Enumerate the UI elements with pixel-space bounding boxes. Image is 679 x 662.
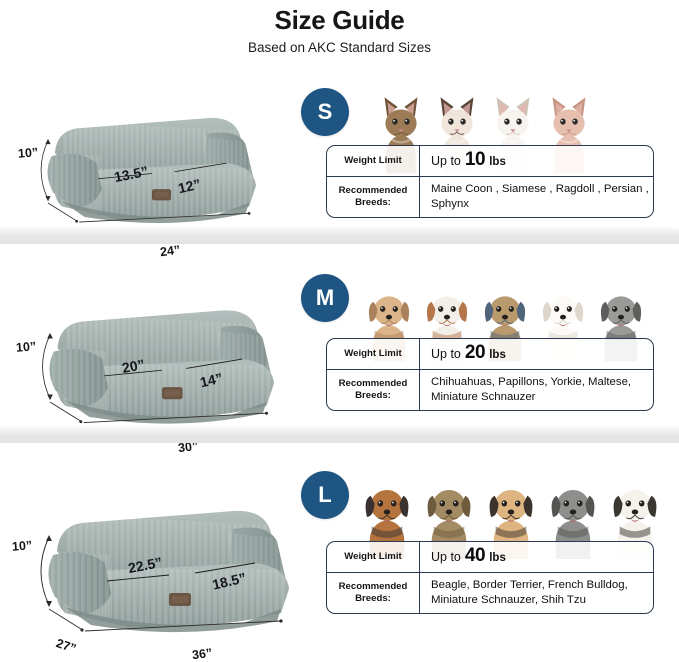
bed-illustration-l: 10” 22.5” 18.5” 27” 36” xyxy=(0,461,300,653)
weight-unit: lbs xyxy=(489,551,506,566)
weight-unit: lbs xyxy=(489,155,506,170)
info-column-s: S xyxy=(300,56,679,244)
page-subtitle: Based on AKC Standard Sizes xyxy=(0,38,679,58)
spec-table-s: Weight Limit Up to 10 lbs Recommended Br… xyxy=(326,145,654,218)
weight-prefix: Up to xyxy=(431,347,461,362)
weight-limit-row: Weight Limit Up to 40 lbs xyxy=(327,542,653,573)
weight-limit-value: Up to 40 lbs xyxy=(420,542,653,572)
weight-unit: lbs xyxy=(489,348,506,363)
page-header: Size Guide Based on AKC Standard Sizes xyxy=(0,0,679,58)
size-badge-l[interactable]: L xyxy=(301,471,349,519)
recommended-breeds-value: Chihuahuas, Papillons, Yorkie, Maltese, … xyxy=(420,370,653,410)
weight-limit-value: Up to 10 lbs xyxy=(420,146,653,176)
size-badge-s[interactable]: S xyxy=(301,88,349,136)
weight-number: 40 xyxy=(465,549,485,564)
weight-limit-label: Weight Limit xyxy=(327,339,420,369)
size-section-m: 10” 20” 14” 20” 30” M xyxy=(0,262,679,443)
spec-table-m: Weight Limit Up to 20 lbs Recommended Br… xyxy=(326,338,654,411)
recommended-breeds-value: Maine Coon , Siamese , Ragdoll , Persian… xyxy=(420,177,653,217)
size-section-s: 10” 13.5” 12” 18” 24” S xyxy=(0,56,679,244)
page-title: Size Guide xyxy=(0,4,679,36)
dimension-height: 10” xyxy=(16,339,37,354)
spec-table-l: Weight Limit Up to 40 lbs Recommended Br… xyxy=(326,541,654,614)
section-divider xyxy=(0,226,679,244)
weight-limit-row: Weight Limit Up to 10 lbs xyxy=(327,146,653,177)
recommended-breeds-row: Recommended Breeds: Beagle, Border Terri… xyxy=(327,573,653,613)
weight-limit-label: Weight Limit xyxy=(327,146,420,176)
size-badge-m[interactable]: M xyxy=(301,274,349,322)
weight-limit-row: Weight Limit Up to 20 lbs xyxy=(327,339,653,370)
bed-illustration-m: 10” 20” 14” 20” 30” xyxy=(0,262,300,443)
recommended-breeds-label: Recommended Breeds: xyxy=(327,370,420,410)
section-divider xyxy=(0,425,679,443)
info-column-m: M xyxy=(300,262,679,443)
dimension-width: 24” xyxy=(159,243,181,259)
weight-prefix: Up to xyxy=(431,154,461,169)
recommended-breeds-row: Recommended Breeds: Chihuahuas, Papillon… xyxy=(327,370,653,410)
bed-illustration-s: 10” 13.5” 12” 18” 24” xyxy=(0,56,300,244)
recommended-breeds-label: Recommended Breeds: xyxy=(327,177,420,217)
dimension-width: 36” xyxy=(191,646,213,662)
weight-limit-value: Up to 20 lbs xyxy=(420,339,653,369)
weight-number: 20 xyxy=(465,346,485,361)
recommended-breeds-label: Recommended Breeds: xyxy=(327,573,420,613)
dimension-height: 10” xyxy=(18,145,39,160)
info-column-l: L xyxy=(300,461,679,653)
weight-number: 10 xyxy=(465,153,485,168)
weight-limit-label: Weight Limit xyxy=(327,542,420,572)
size-section-l: 10” 22.5” 18.5” 27” 36” L xyxy=(0,461,679,653)
recommended-breeds-row: Recommended Breeds: Maine Coon , Siamese… xyxy=(327,177,653,217)
weight-prefix: Up to xyxy=(431,550,461,565)
dimension-height: 10” xyxy=(12,538,33,553)
recommended-breeds-value: Beagle, Border Terrier, French Bulldog, … xyxy=(420,573,653,613)
